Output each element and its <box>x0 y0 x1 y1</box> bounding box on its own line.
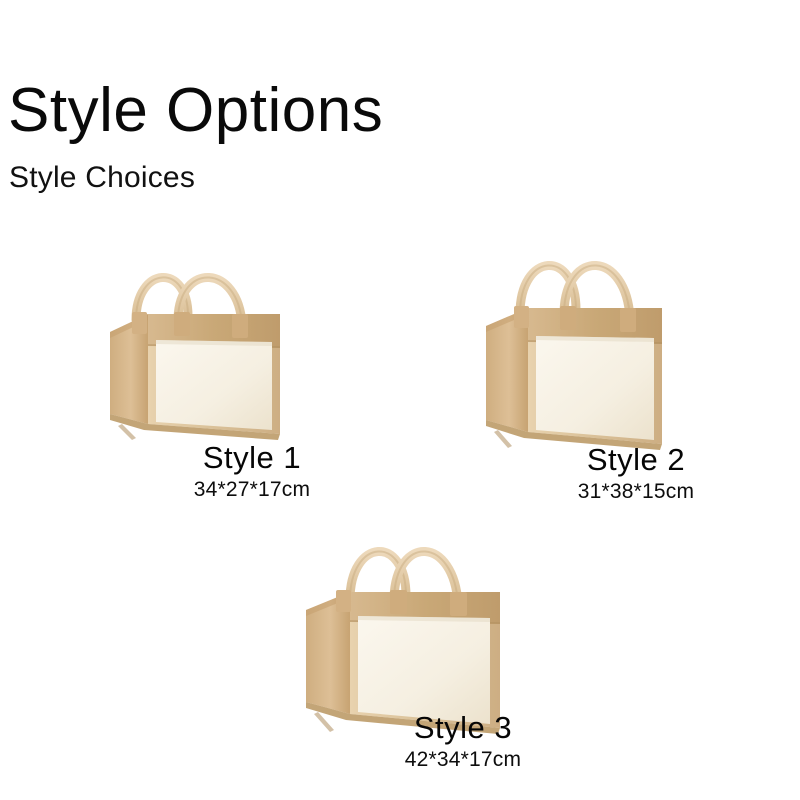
product-caption-style-3: Style 3 42*34*17cm <box>336 712 590 775</box>
page-title: Style Options <box>8 80 383 142</box>
product-style-options-image: Style Options Style Choices <box>0 0 800 800</box>
product-caption-style-2: Style 2 31*38*15cm <box>512 444 760 507</box>
page-subtitle: Style Choices <box>9 163 195 193</box>
style-label-2: Style 2 <box>512 444 760 477</box>
tote-bag-icon <box>468 218 676 466</box>
style-dimensions-2: 31*38*15cm <box>512 477 760 507</box>
style-dimensions-3: 42*34*17cm <box>336 745 590 775</box>
product-figure-style-1 <box>92 228 292 460</box>
product-caption-style-1: Style 1 34*27*17cm <box>132 442 372 505</box>
tote-bag-icon <box>92 228 292 460</box>
style-label-3: Style 3 <box>336 712 590 745</box>
style-label-1: Style 1 <box>132 442 372 475</box>
style-dimensions-1: 34*27*17cm <box>132 475 372 505</box>
product-figure-style-2 <box>468 218 676 466</box>
